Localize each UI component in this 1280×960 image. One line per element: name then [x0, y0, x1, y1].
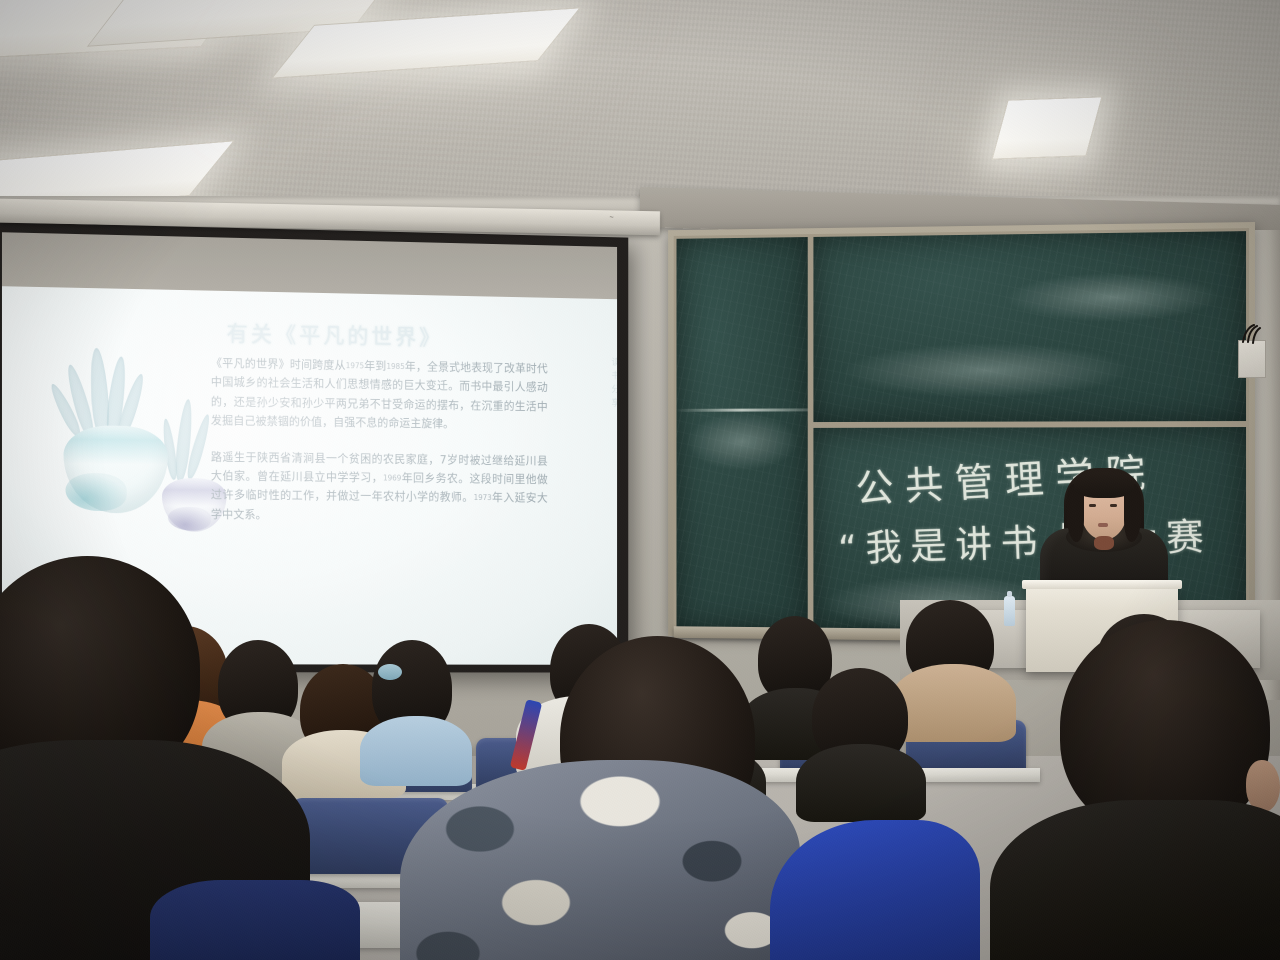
speaker-scarf [1094, 536, 1114, 550]
blackboard-panel-top [811, 228, 1249, 425]
slide-title: 有关《平凡的世界》 [226, 317, 442, 353]
speaker-eye-right [1110, 504, 1117, 507]
foreground-body-right [990, 800, 1280, 960]
foreground-backpack [150, 880, 360, 960]
speaker-fringe [1074, 472, 1134, 498]
slide-paragraph-1: 《平凡的世界》时间跨度从1975年到1985年，全景式地表现了改革时代中国城乡的… [211, 354, 548, 435]
chalk-smudge [1005, 271, 1221, 323]
plant-pot-teal [64, 425, 168, 514]
chalk-rail-line [676, 408, 807, 411]
student-shoulders [890, 664, 1016, 742]
water-bottle [1004, 596, 1015, 626]
slide-body: 《平凡的世界》时间跨度从1975年到1985年，全景式地表现了改革时代中国城乡的… [211, 354, 548, 544]
wall-cable-icon [1240, 322, 1264, 344]
chalk-smudge [686, 412, 798, 470]
roller-brand-mark: ~ [609, 214, 614, 221]
blackboard-panel-left [674, 234, 811, 631]
wall-junction-box [1238, 340, 1266, 378]
student-shoulders [796, 744, 926, 822]
student-shoulders [360, 716, 472, 786]
slide-illustration [34, 329, 211, 540]
foreground-blue-jacket [770, 820, 980, 960]
slide-paragraph-2: 路遥生于陕西省清涧县一个贫困的农民家庭，7岁时被过继给延川县大伯家。曾在延川县立… [211, 447, 548, 527]
hair-scrunchie [378, 664, 402, 680]
ceiling-light-panel [991, 96, 1102, 159]
speaker-eye-left [1089, 504, 1096, 507]
chalk-smudge [842, 342, 1132, 399]
speaker-mouth [1098, 523, 1108, 527]
podium-top-edge [1022, 580, 1182, 589]
lecture-hall-photo: ~ 有关《平凡的世界》 《平凡的世界》时间跨度从1975年到1985年，全景式地… [0, 0, 1280, 960]
slide-side-column: 读书分享 [609, 357, 617, 411]
foreground-ear-right [1246, 760, 1280, 812]
